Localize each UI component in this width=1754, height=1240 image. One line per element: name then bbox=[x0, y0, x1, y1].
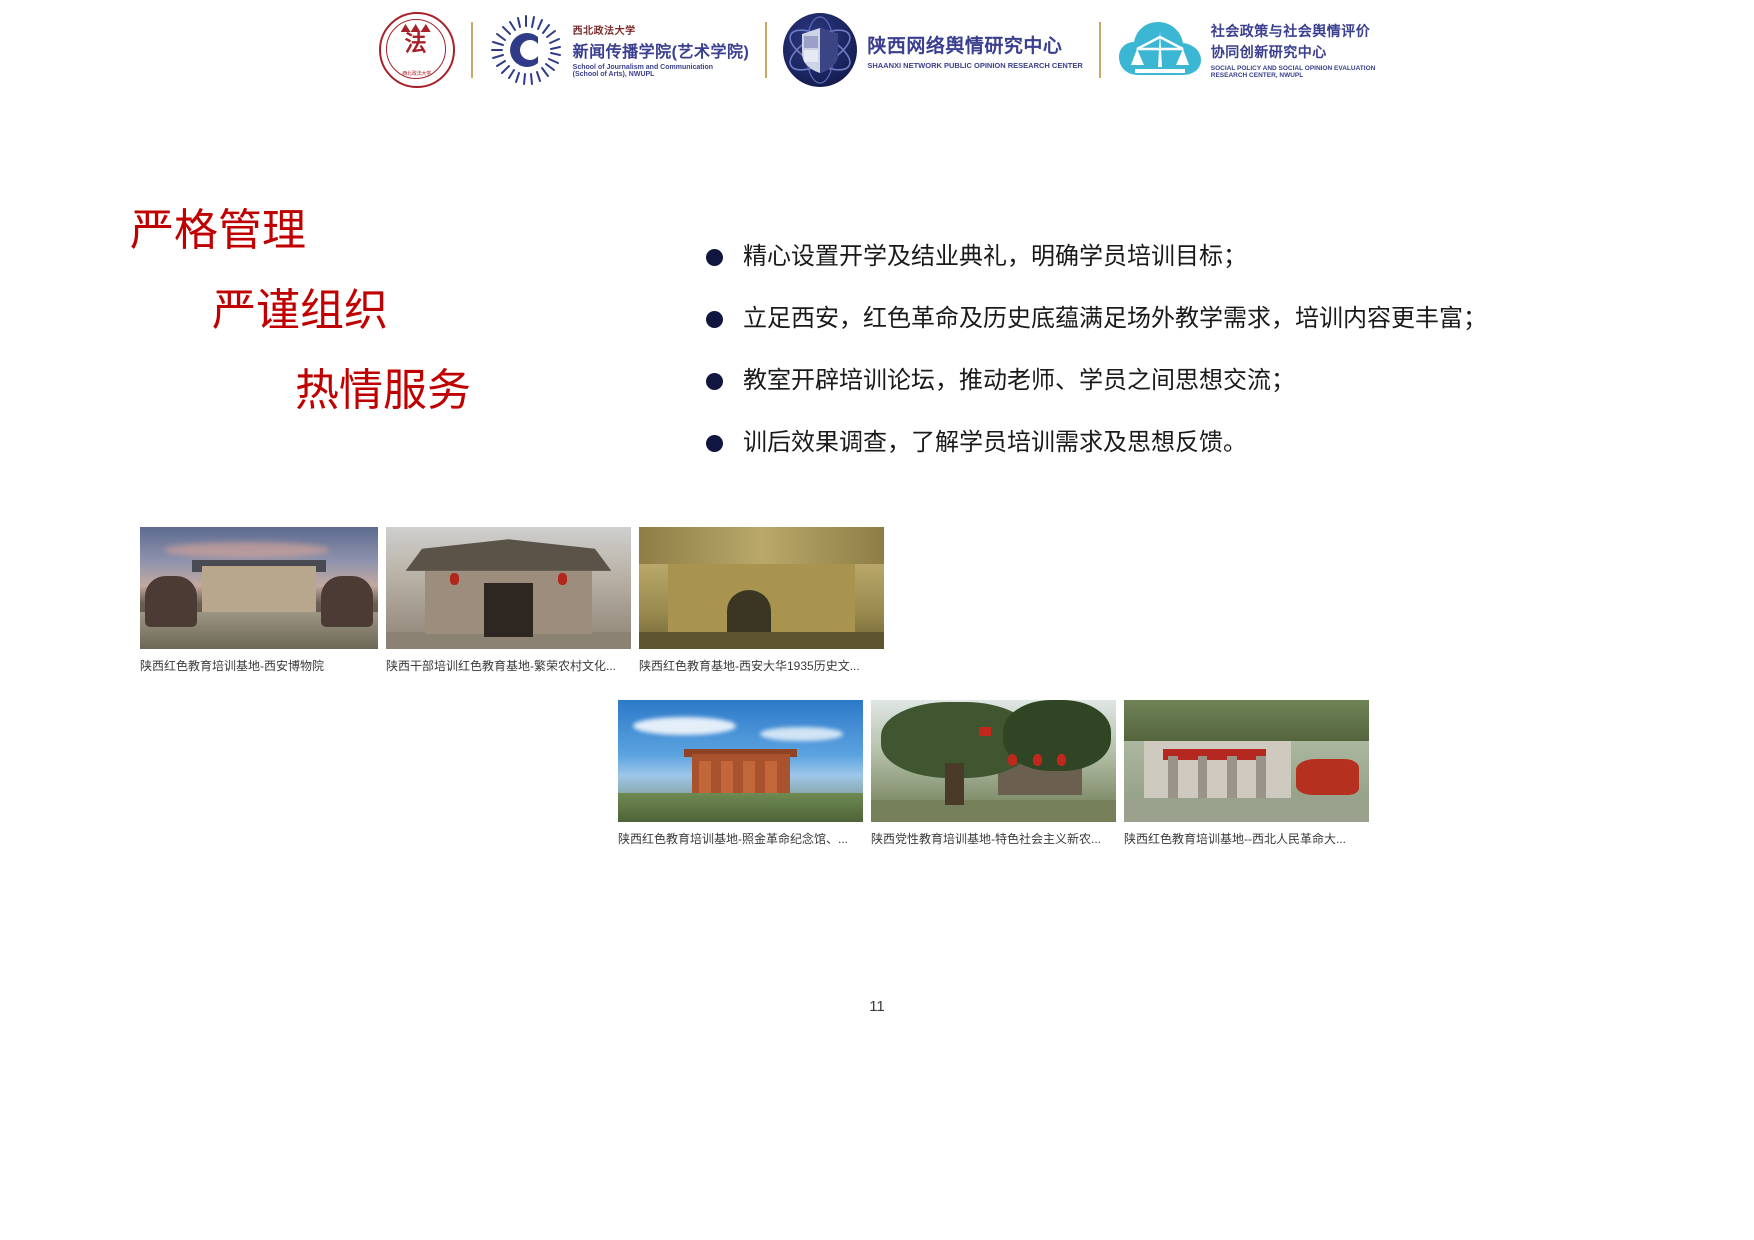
photo-card: 陕西红色教育培训基地-西安博物院 bbox=[140, 527, 378, 674]
slide-headline: 严格管理 严谨组织 热情服务 bbox=[130, 205, 610, 417]
university-seal-icon: 法 西北政法大学 bbox=[379, 12, 455, 88]
photo-caption: 陕西红色教育培训基地--西北人民革命大... bbox=[1124, 830, 1369, 847]
bullet-list: 精心设置开学及结业典礼，明确学员培训目标； 立足西安，红色革命及历史底蕴满足场外… bbox=[706, 240, 1706, 488]
photo-caption: 陕西红色教育基地-西安大华1935历史文... bbox=[639, 657, 884, 674]
logo2-org-en-2: (School of Arts), NWUPL bbox=[573, 71, 750, 78]
headline-line-1: 严格管理 bbox=[130, 205, 610, 257]
photo-zhaojin-memorial bbox=[618, 700, 863, 822]
logo-school-of-journalism: 西北政法大学 新闻传播学院(艺术学院) School of Journalism… bbox=[489, 11, 750, 89]
photo-caption: 陕西党性教育培训基地-特色社会主义新农... bbox=[871, 830, 1116, 847]
photo-new-socialist-village bbox=[871, 700, 1116, 822]
logo3-org-en-1: SHAANXI NETWORK PUBLIC OPINION RESEARCH … bbox=[867, 61, 1082, 70]
bullet-dot-icon bbox=[706, 249, 723, 266]
list-item: 精心设置开学及结业典礼，明确学员培训目标； bbox=[706, 240, 1706, 274]
seal-caption: 西北政法大学 bbox=[381, 70, 453, 77]
photo-dahua-1935 bbox=[639, 527, 884, 649]
photo-caption: 陕西红色教育培训基地-照金革命纪念馆、... bbox=[618, 830, 863, 847]
headline-line-2: 严谨组织 bbox=[212, 285, 610, 337]
bullet-dot-icon bbox=[706, 435, 723, 452]
photo-village-culture-gate bbox=[386, 527, 631, 649]
logo-divider-3 bbox=[1099, 22, 1101, 78]
seal-roof-icon bbox=[401, 24, 431, 32]
logo4-org-en-2: RESEARCH CENTER, NWUPL bbox=[1211, 72, 1376, 79]
photo-card: 陕西干部培训红色教育基地-繁荣农村文化... bbox=[386, 527, 631, 674]
logo4-org-main-1: 社会政策与社会舆情评价 bbox=[1211, 21, 1376, 41]
logo4-org-en-1: SOCIAL POLICY AND SOCIAL OPINION EVALUAT… bbox=[1211, 65, 1376, 72]
bullet-text-3: 教室开辟培训论坛，推动老师、学员之间思想交流； bbox=[743, 364, 1295, 398]
header-logo-bar: 法 西北政法大学 bbox=[0, 0, 1754, 100]
radiant-c-icon bbox=[489, 13, 563, 87]
logo-network-opinion-center: 陕西网络舆情研究中心 SHAANXI NETWORK PUBLIC OPINIO… bbox=[783, 11, 1082, 89]
bullet-text-2: 立足西安，红色革命及历史底蕴满足场外教学需求，培训内容更丰富； bbox=[743, 302, 1487, 336]
logo-nwupl-seal: 法 西北政法大学 bbox=[379, 11, 455, 89]
seal-glyph: 法 bbox=[394, 32, 438, 58]
photo-card: 陕西红色教育培训基地-照金革命纪念馆、... bbox=[618, 700, 863, 847]
photo-xian-museum bbox=[140, 527, 378, 649]
photo-caption: 陕西红色教育培训基地-西安博物院 bbox=[140, 657, 378, 674]
bullet-text-4: 训后效果调查，了解学员培训需求及思想反馈。 bbox=[743, 426, 1247, 460]
headline-line-3: 热情服务 bbox=[295, 365, 610, 417]
logo3-org-main: 陕西网络舆情研究中心 bbox=[867, 31, 1082, 58]
gallery-row-2: 陕西红色教育培训基地-照金革命纪念馆、... 陕西党性教育培训基地-特色社会主义… bbox=[618, 700, 1369, 847]
logo2-org-small: 西北政法大学 bbox=[573, 22, 750, 37]
shield-globe-icon bbox=[783, 13, 857, 87]
page-number: 11 bbox=[0, 998, 1754, 1015]
bullet-dot-icon bbox=[706, 311, 723, 328]
gallery-row-1: 陕西红色教育培训基地-西安博物院 陕西干部培训红色教育基地-繁荣农村文化... … bbox=[140, 527, 884, 674]
list-item: 教室开辟培训论坛，推动老师、学员之间思想交流； bbox=[706, 364, 1706, 398]
photo-northwest-revolutionary-university bbox=[1124, 700, 1369, 822]
logo-divider-1 bbox=[471, 22, 473, 78]
logo2-org-en-1: School of Journalism and Communication bbox=[573, 64, 750, 71]
photo-card: 陕西红色教育培训基地--西北人民革命大... bbox=[1124, 700, 1369, 847]
bullet-text-1: 精心设置开学及结业典礼，明确学员培训目标； bbox=[743, 240, 1247, 274]
cloud-scale-icon bbox=[1117, 17, 1203, 83]
photo-card: 陕西党性教育培训基地-特色社会主义新农... bbox=[871, 700, 1116, 847]
photo-caption: 陕西干部培训红色教育基地-繁荣农村文化... bbox=[386, 657, 631, 674]
list-item: 训后效果调查，了解学员培训需求及思想反馈。 bbox=[706, 426, 1706, 460]
photo-card: 陕西红色教育基地-西安大华1935历史文... bbox=[639, 527, 884, 674]
list-item: 立足西安，红色革命及历史底蕴满足场外教学需求，培训内容更丰富； bbox=[706, 302, 1706, 336]
bullet-dot-icon bbox=[706, 373, 723, 390]
logo-divider-2 bbox=[765, 22, 767, 78]
logo-social-policy-center: 社会政策与社会舆情评价 协同创新研究中心 SOCIAL POLICY AND S… bbox=[1117, 11, 1376, 89]
logo2-org-main: 新闻传播学院(艺术学院) bbox=[573, 38, 750, 62]
logo4-org-main-2: 协同创新研究中心 bbox=[1211, 42, 1376, 62]
